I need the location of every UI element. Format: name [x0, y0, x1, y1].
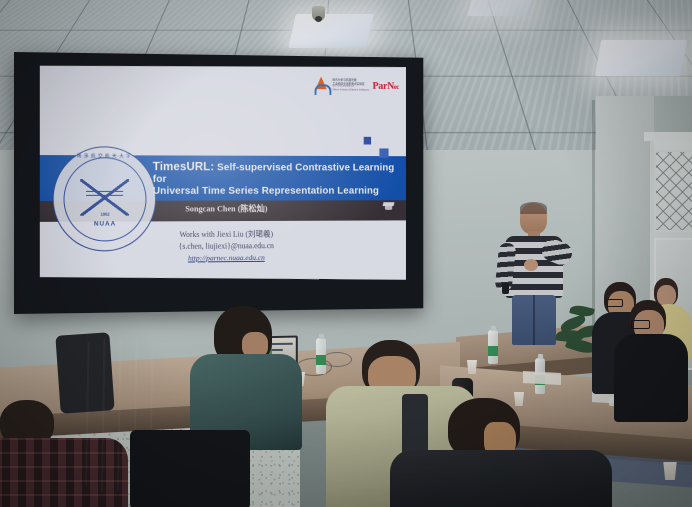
panel-light-icon: [288, 14, 374, 48]
panel-light-icon: [467, 0, 533, 16]
lab-en-line2: Pattern Analysis & Machine Intelligence: [332, 89, 369, 93]
window-sill: [644, 132, 692, 141]
presentation-slide: 南京航空航天大学 1952 NUAA 模式分析与机器智能 工业和信息化部重点实验…: [40, 62, 406, 283]
projection-screen: 南京航空航天大学 1952 NUAA 模式分析与机器智能 工业和信息化部重点实验…: [14, 52, 423, 314]
attendee-dark-shirt: [400, 398, 600, 507]
lab-logo-icon: [314, 77, 330, 94]
water-bottle: [316, 338, 326, 374]
notepad: [523, 371, 561, 385]
title-line2: Universal Time Series Representation Lea…: [153, 185, 396, 197]
panel-light-icon: [595, 40, 687, 76]
presenter-hand: [524, 259, 538, 271]
blue-square-decoration-icon: [363, 137, 370, 145]
presenter-hair: [520, 202, 547, 214]
attendee-teal-jacket: [186, 306, 306, 446]
slide-url-link[interactable]: http://parnec.nuaa.edu.cn: [188, 253, 265, 262]
dome-camera-icon: [312, 6, 325, 21]
office-chair: [130, 430, 250, 507]
slide-title: TimesURL: Self-supervised Contrastive Le…: [153, 159, 396, 197]
eyeglasses-icon: [631, 320, 650, 329]
slide-speaker: Songcan Chen (陈松灿): [40, 202, 406, 215]
attendee-glasses-front: [620, 300, 682, 418]
parnec-logo: ParNec: [372, 80, 399, 92]
conference-room-photo: 南京航空航天大学 1952 NUAA 模式分析与机器智能 工业和信息化部重点实验…: [0, 0, 692, 507]
slide-logos: 模式分析与机器智能 工业和信息化部重点实验室 MIIT Key Laborato…: [314, 77, 399, 94]
works-with-line: Works with Jiexi Liu (刘珺羲): [40, 228, 406, 241]
email-line: {s.chen, liujiexi}@nuaa.edu.cn: [40, 241, 406, 252]
seal-chinese-text: 南京航空航天大学: [54, 153, 155, 159]
water-bottle: [488, 330, 498, 364]
presentation-clicker: [502, 283, 509, 294]
window-grille: [654, 150, 692, 232]
parnec-main: ParN: [372, 80, 394, 92]
presenter-standing: [498, 203, 572, 343]
slide-subtext: Works with Jiexi Liu (刘珺羲) {s.chen, liuj…: [40, 226, 406, 266]
blue-square-decoration-icon: [379, 149, 388, 159]
lab-name-text: 模式分析与机器智能 工业和信息化部重点实验室 MIIT Key Laborato…: [332, 78, 369, 93]
parnec-sub: ec: [394, 83, 399, 91]
title-prefix: TimesURL:: [153, 159, 214, 173]
